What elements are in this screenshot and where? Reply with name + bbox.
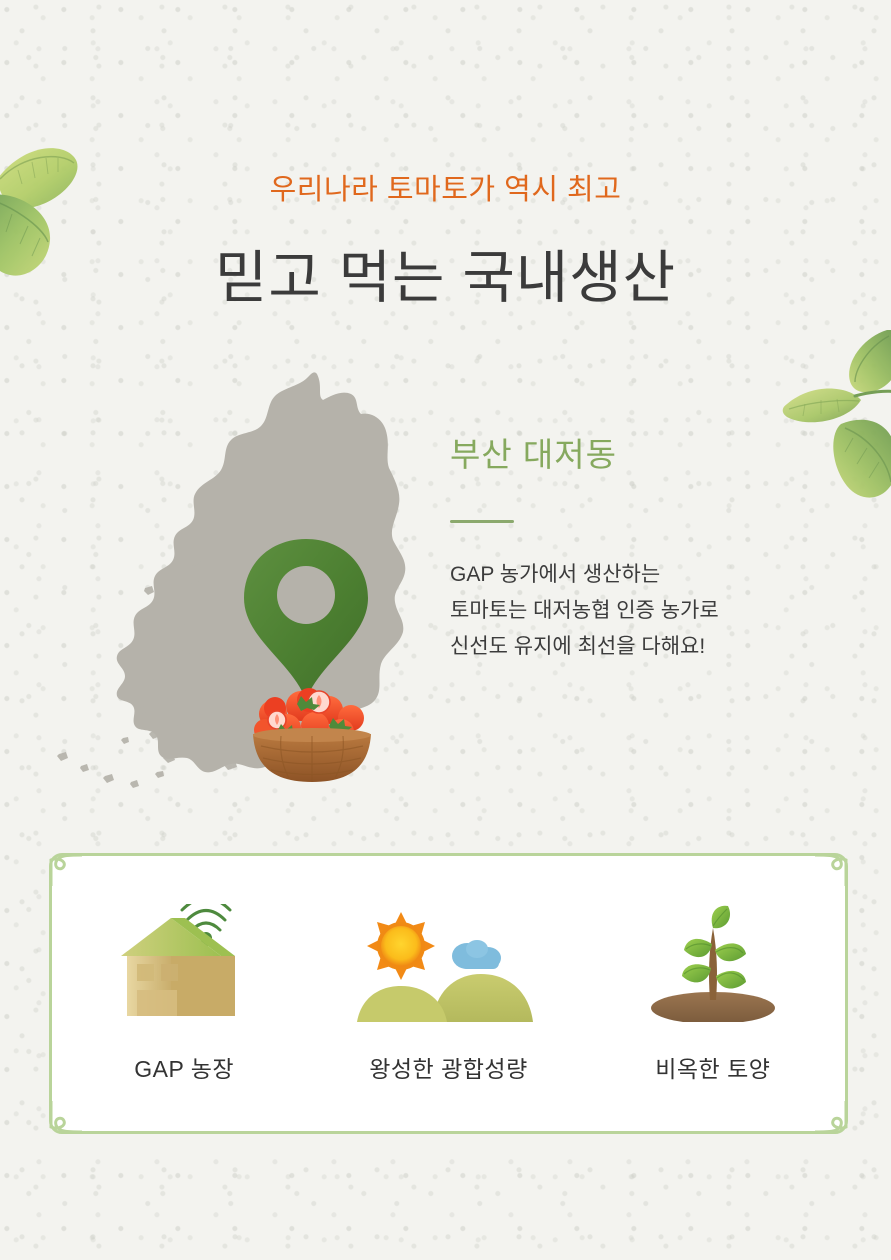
feature-item-fertile-soil: 비옥한 토양: [581, 904, 845, 1084]
page-subtitle: 우리나라 토마토가 역시 최고: [0, 166, 891, 208]
corner-curl-top-left-icon: [48, 852, 82, 886]
region-title: 부산 대저동: [450, 428, 719, 476]
region-divider: [450, 520, 514, 523]
farmhouse-antenna-icon: [109, 904, 259, 1022]
feature-label-photosynthesis: 왕성한 광합성량: [369, 1050, 528, 1084]
region-description: GAP 농가에서 생산하는 토마토는 대저농협 인증 농가로 신선도 유지에 최…: [450, 557, 719, 665]
region-info-block: 부산 대저동 GAP 농가에서 생산하는 토마토는 대저농협 인증 농가로 신선…: [450, 428, 719, 665]
corner-curl-bottom-left-icon: [48, 1101, 82, 1135]
feature-list: GAP 농장: [52, 856, 845, 1131]
leaf-decoration-right: [769, 312, 891, 520]
feature-label-fertile-soil: 비옥한 토양: [655, 1050, 770, 1084]
feature-label-gap-farm: GAP 농장: [134, 1050, 234, 1084]
seedling-soil-icon: [638, 904, 788, 1022]
sun-cloud-hills-icon: [357, 904, 539, 1022]
feature-item-gap-farm: GAP 농장: [52, 904, 316, 1084]
korea-map: [55, 352, 455, 802]
feature-card: GAP 농장: [49, 853, 848, 1134]
corner-curl-bottom-right-icon: [815, 1101, 849, 1135]
page-title: 믿고 먹는 국내생산: [0, 232, 891, 314]
feature-item-photosynthesis: 왕성한 광합성량: [316, 904, 580, 1084]
corner-curl-top-right-icon: [815, 852, 849, 886]
